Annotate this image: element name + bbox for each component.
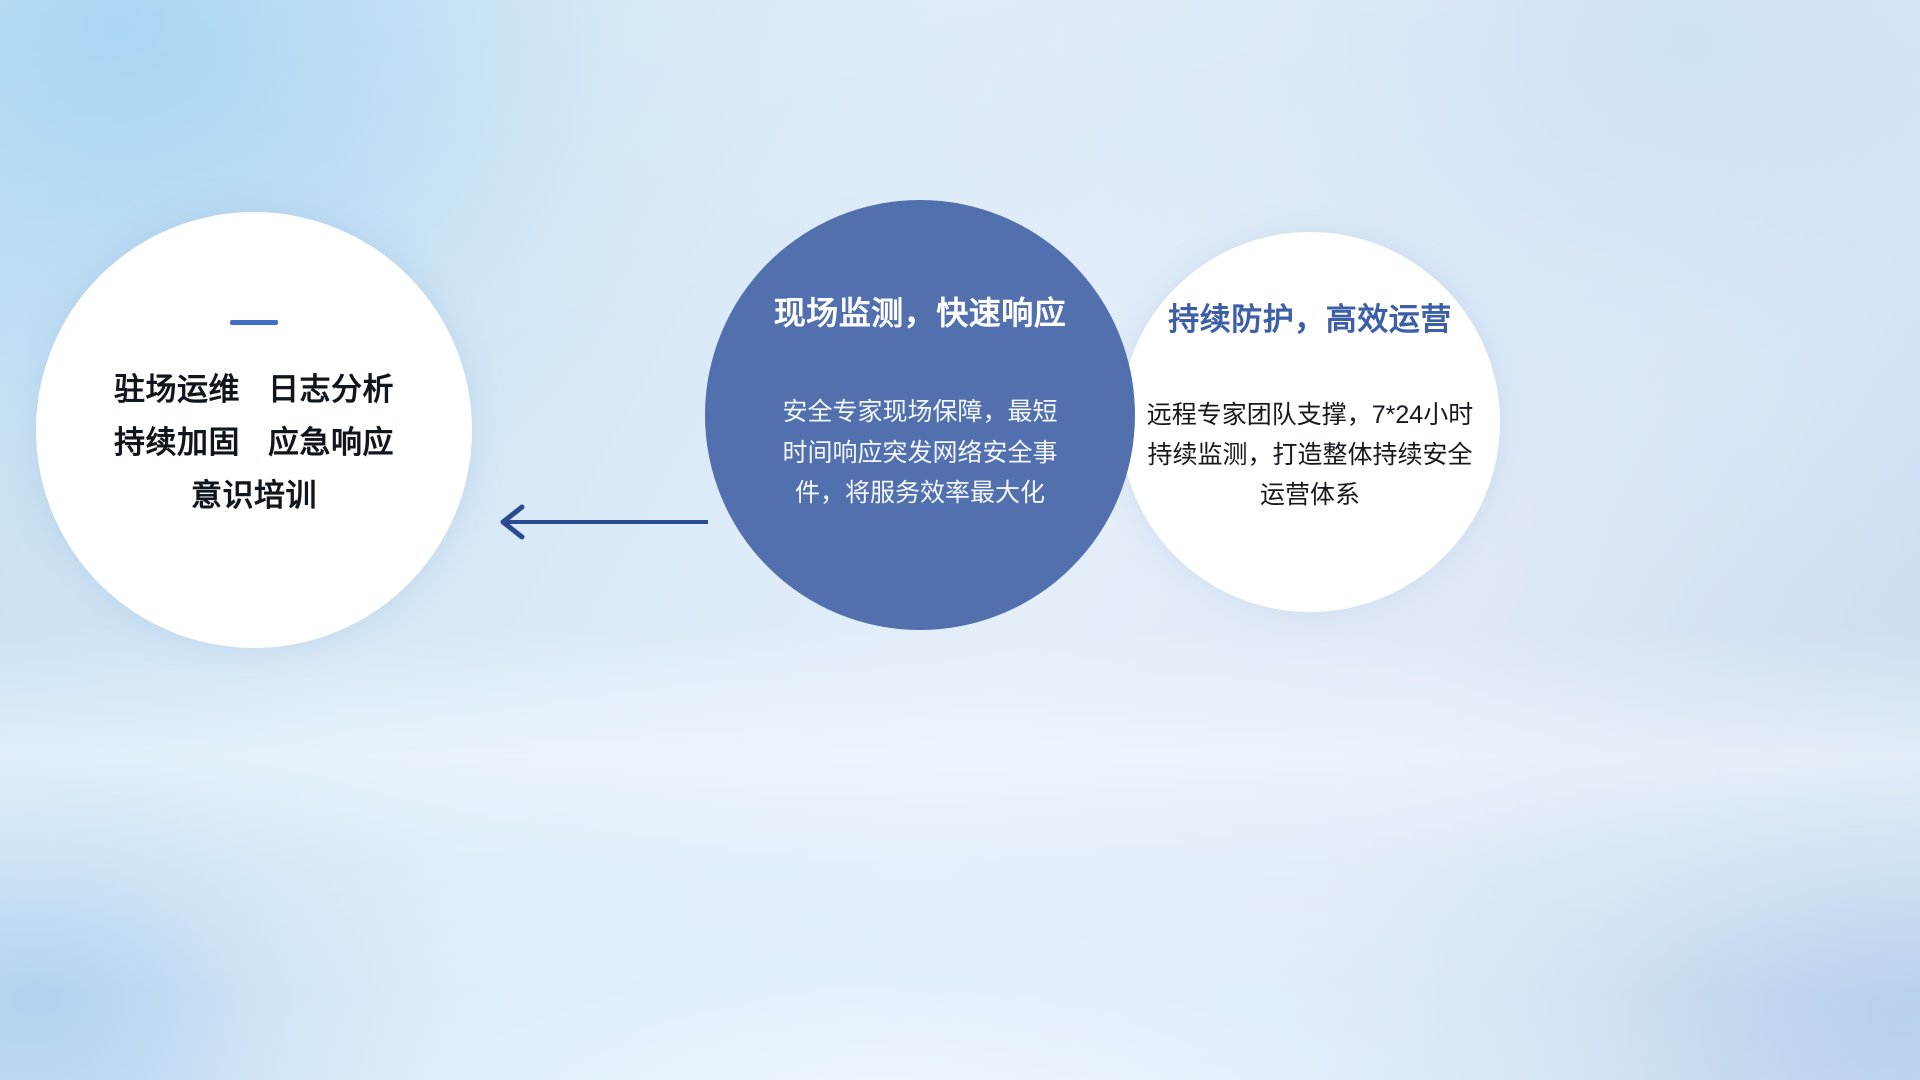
capability-tag-row: 意识培训: [191, 475, 317, 518]
right-circle-body: 远程专家团队支撑，7*24小时持续监测，打造整体持续安全运营体系: [1145, 395, 1475, 515]
capability-tag: 持续加固: [114, 425, 240, 460]
capability-tag: 意识培训: [191, 478, 317, 513]
middle-circle-heading: 现场监测，快速响应: [774, 288, 1067, 334]
capability-tag: 日志分析: [268, 372, 394, 407]
capability-tag-row: 持续加固应急响应: [114, 422, 394, 465]
dash-divider-icon: [230, 320, 278, 325]
left-capability-circle: 驻场运维日志分析 持续加固应急响应 意识培训: [36, 212, 472, 648]
middle-onsite-circle: 现场监测，快速响应 安全专家现场保障，最短时间响应突发网络安全事件，将服务效率最…: [705, 200, 1135, 630]
right-circle-heading: 持续防护，高效运营: [1168, 294, 1452, 339]
capability-tag-list: 驻场运维日志分析 持续加固应急响应 意识培训: [114, 369, 394, 517]
capability-tag-row: 驻场运维日志分析: [114, 369, 394, 412]
slide-canvas: 驻场运维日志分析 持续加固应急响应 意识培训 现场监测，快速响应 安全专家现场保…: [0, 0, 1920, 1080]
middle-circle-body: 安全专家现场保障，最短时间响应突发网络安全事件，将服务效率最大化: [780, 392, 1060, 514]
capability-tag: 驻场运维: [114, 372, 240, 407]
right-continuous-circle: 持续防护，高效运营 远程专家团队支撑，7*24小时持续监测，打造整体持续安全运营…: [1120, 232, 1500, 612]
arrow-left-icon: [492, 498, 712, 546]
capability-tag: 应急响应: [268, 425, 394, 460]
